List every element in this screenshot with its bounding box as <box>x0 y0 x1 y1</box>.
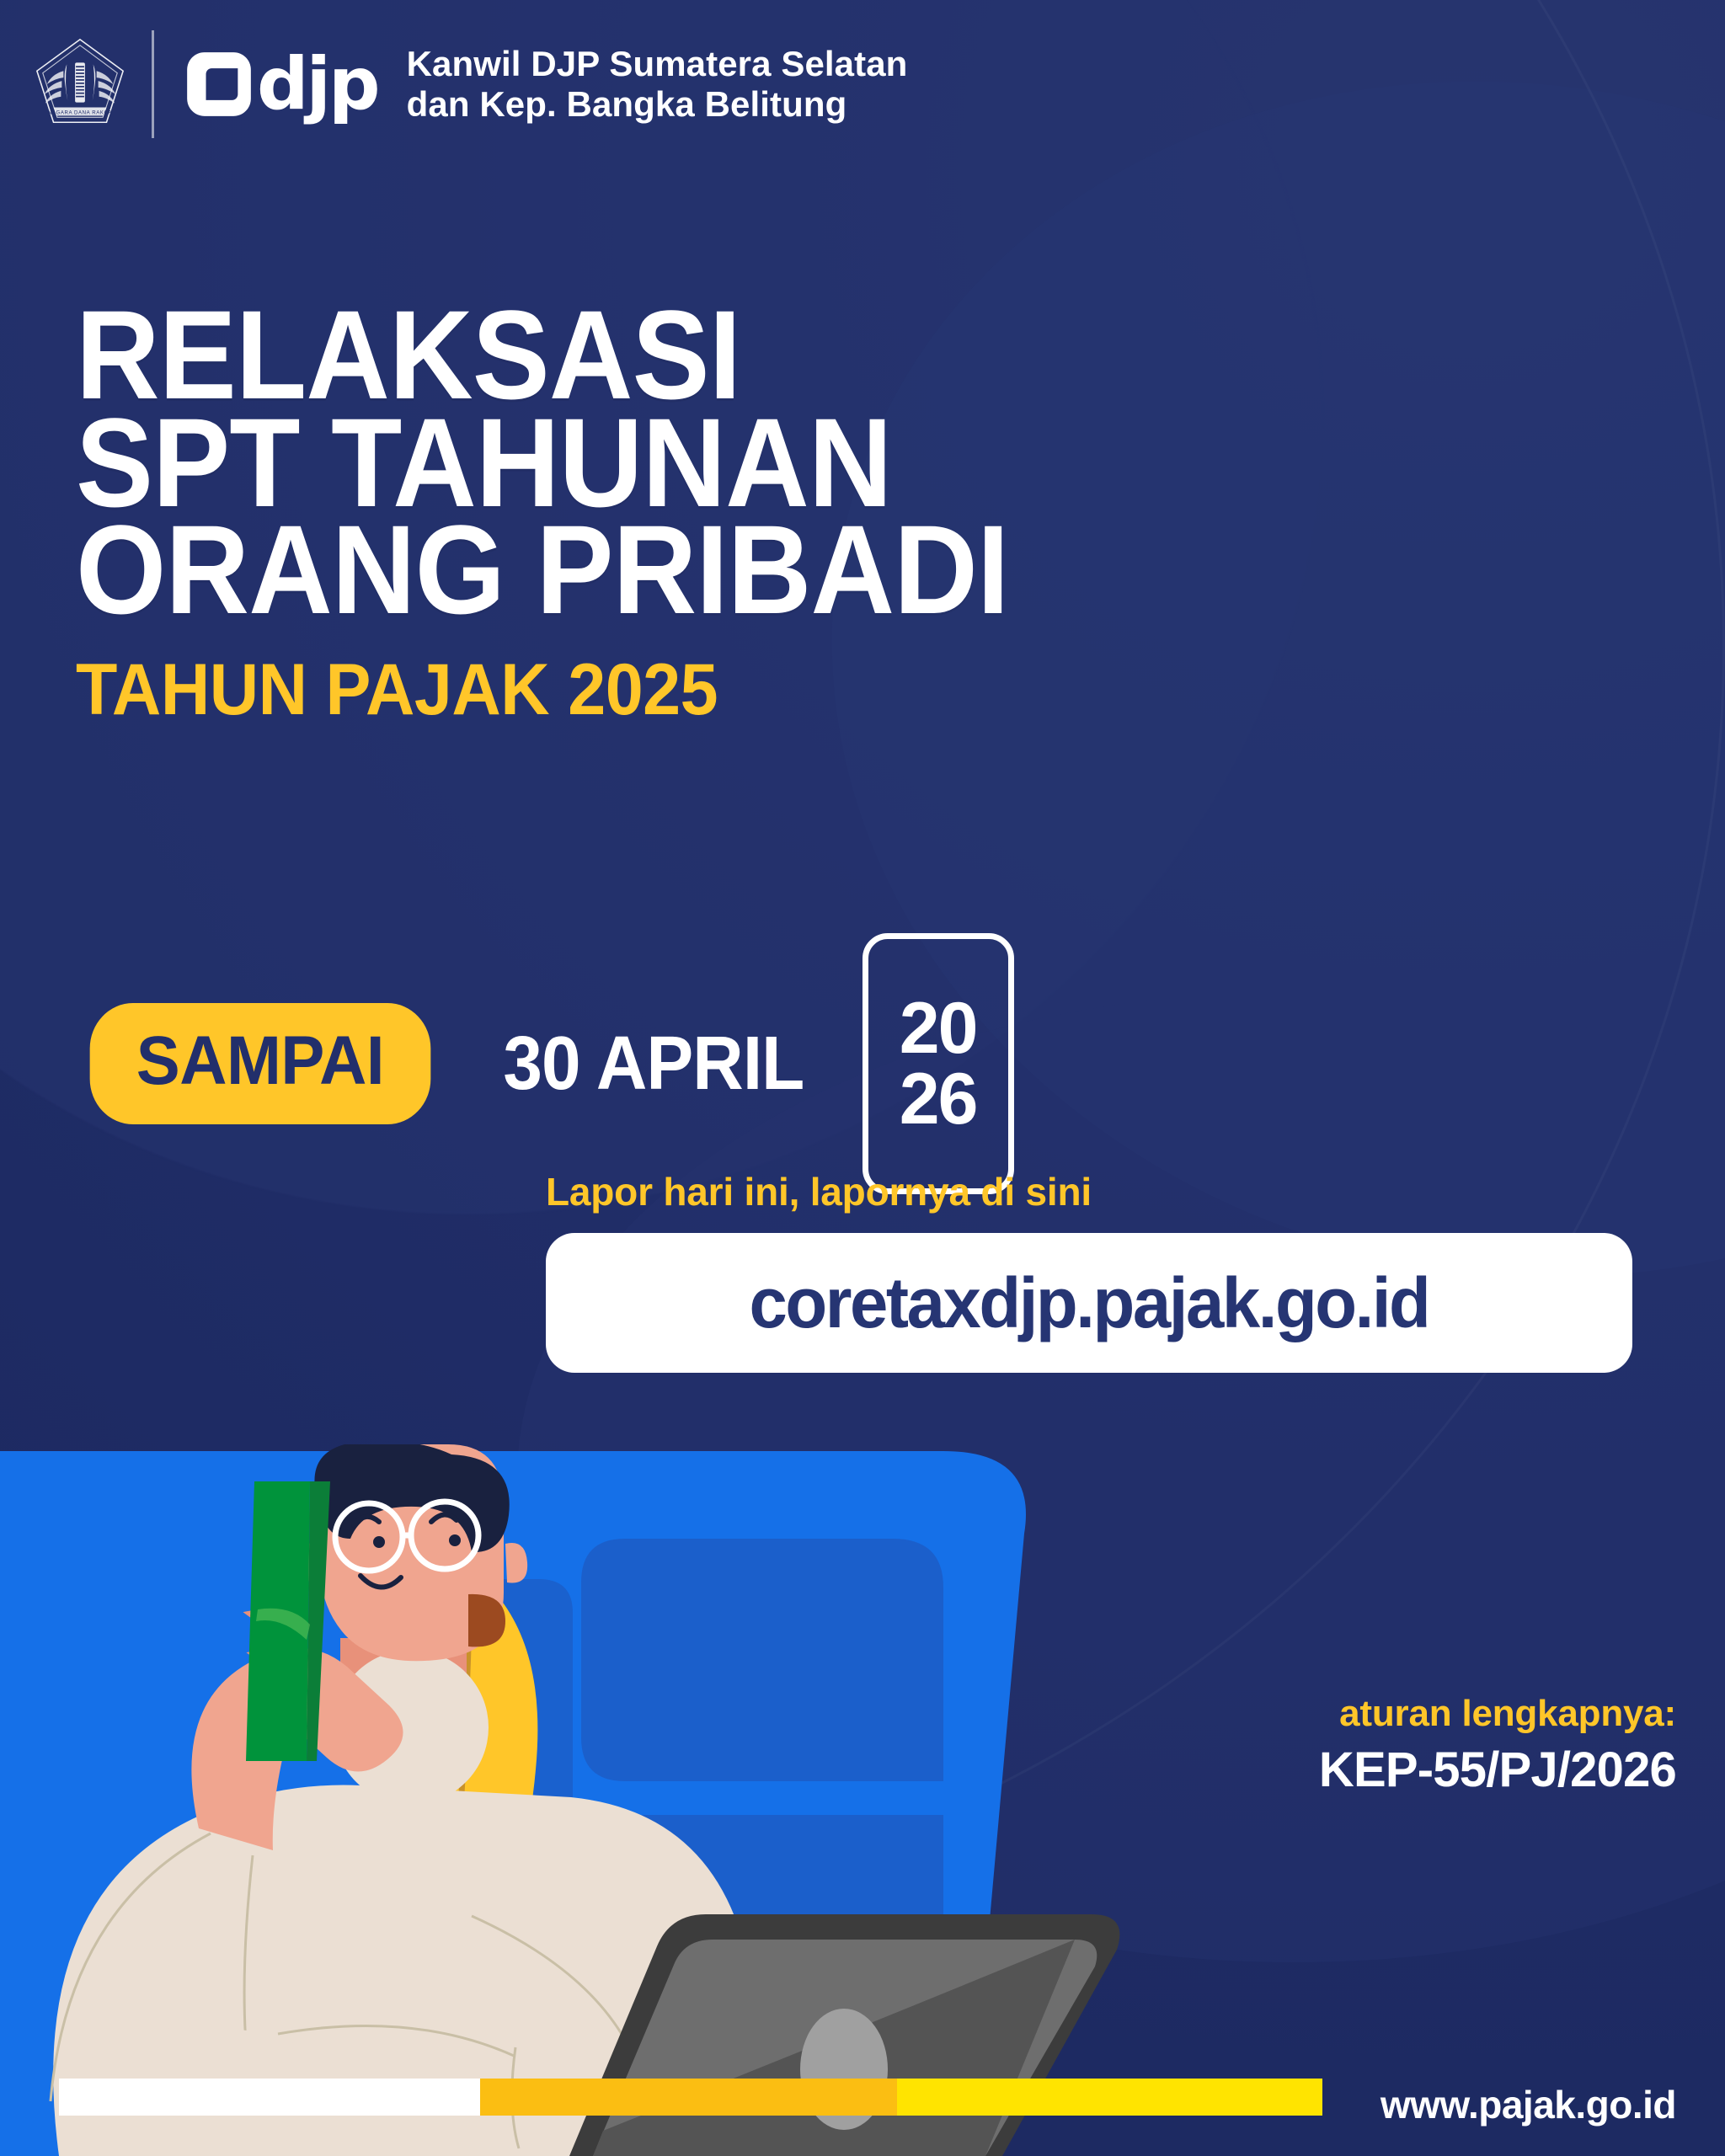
djp-logo: djp <box>183 48 378 120</box>
url-block: Lapor hari ini, lapornya di sini coretax… <box>546 1169 1649 1373</box>
deadline-year-top: 20 <box>900 993 977 1064</box>
url-button[interactable]: coretaxdjp.pajak.go.id <box>546 1233 1632 1373</box>
footer-website[interactable]: www.pajak.go.id <box>1381 2082 1676 2127</box>
poster-header: NAGARA DANA RAKCA djp Kanwil DJP Sumater… <box>0 0 1725 168</box>
footer-progress-bar <box>59 2079 1322 2116</box>
illustration-svg <box>0 1444 1133 2156</box>
deadline-year-box: 20 26 <box>862 933 1014 1194</box>
headline-block: RELAKSASI SPT TAHUNAN ORANG PRIBADI TAHU… <box>76 302 1090 730</box>
djp-wordmark: djp <box>257 55 378 115</box>
rule-note-block: aturan lengkapnya: KEP-55/PJ/2026 <box>1319 1693 1676 1798</box>
rule-note-code: KEP-55/PJ/2026 <box>1319 1742 1676 1798</box>
kemenkeu-emblem-icon: NAGARA DANA RAKCA <box>30 35 130 134</box>
deadline-date: 30 APRIL <box>503 1021 804 1107</box>
smartphone-icon <box>246 1481 330 1761</box>
djp-mark-icon <box>183 48 255 120</box>
footer-bar-segment-yellow <box>897 2079 1322 2116</box>
rule-note-kicker: aturan lengkapnya: <box>1319 1693 1676 1735</box>
deadline-year-bottom: 26 <box>900 1064 977 1134</box>
emblem-motto: NAGARA DANA RAKCA <box>48 109 113 115</box>
sampai-badge: SAMPAI <box>90 1003 431 1124</box>
footer-bar-segment-white <box>59 2079 480 2116</box>
footer-bar-segment-orange <box>480 2079 897 2116</box>
url-kicker-text: Lapor hari ini, lapornya di sini <box>546 1169 1649 1214</box>
deadline-block: SAMPAI 30 APRIL 20 26 <box>81 933 1014 1194</box>
poster-root: NAGARA DANA RAKCA djp Kanwil DJP Sumater… <box>0 0 1725 2156</box>
illustration <box>0 1444 1133 2156</box>
headline-subline: TAHUN PAJAK 2025 <box>76 649 1028 730</box>
url-text: coretaxdjp.pajak.go.id <box>750 1262 1429 1344</box>
header-divider <box>152 30 154 138</box>
organization-name: Kanwil DJP Sumatera Selatan dan Kep. Ban… <box>407 44 908 125</box>
headline-line-3: ORANG PRIBADI <box>76 516 1008 624</box>
